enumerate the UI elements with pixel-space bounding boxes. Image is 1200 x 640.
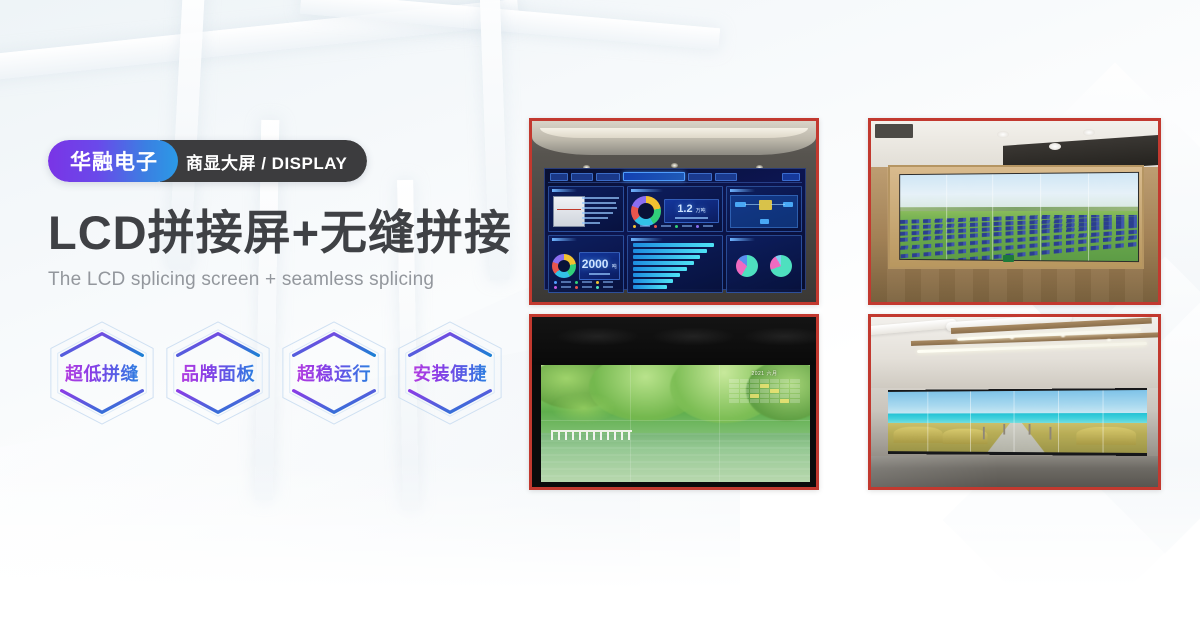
feature-label: 超稳运行 bbox=[297, 360, 371, 386]
photo-beach-boardwalk-wall[interactable] bbox=[868, 314, 1161, 490]
brand-badge: 华融电子 商显大屏 / DISPLAY bbox=[48, 140, 367, 182]
feature-label: 安装便捷 bbox=[413, 360, 487, 386]
brand-tagline: 商显大屏 / DISPLAY bbox=[160, 140, 367, 182]
photo-lake-willow-wall[interactable]: 2021 六月 bbox=[529, 314, 819, 490]
photo-solar-farm-wall[interactable] bbox=[868, 118, 1161, 305]
page-title: LCD拼接屏+无缝拼接 bbox=[48, 208, 508, 259]
page-subtitle: The LCD splicing screen + seamless splic… bbox=[48, 269, 508, 291]
feature-label: 品牌面板 bbox=[181, 360, 255, 386]
photo-control-room-dashboard[interactable]: 1.2 万吨 bbox=[529, 118, 819, 305]
banner-copy-column: 华融电子 商显大屏 / DISPLAY LCD拼接屏+无缝拼接 The LCD … bbox=[48, 140, 508, 429]
feature-list: 超低拼缝 品牌面板 bbox=[44, 317, 508, 429]
background-beam bbox=[0, 0, 520, 83]
product-photo-grid: 1.2 万吨 bbox=[529, 118, 1161, 490]
calendar-title: 2021 六月 bbox=[729, 370, 799, 377]
feature-item-1[interactable]: 品牌面板 bbox=[160, 317, 276, 429]
background-beam bbox=[300, 0, 720, 50]
brand-name: 华融电子 bbox=[48, 140, 178, 182]
feature-label: 超低拼缝 bbox=[65, 360, 139, 386]
feature-item-3[interactable]: 安装便捷 bbox=[392, 317, 508, 429]
feature-item-2[interactable]: 超稳运行 bbox=[276, 317, 392, 429]
promo-banner: 华融电子 商显大屏 / DISPLAY LCD拼接屏+无缝拼接 The LCD … bbox=[0, 0, 1200, 640]
feature-item-0[interactable]: 超低拼缝 bbox=[44, 317, 160, 429]
